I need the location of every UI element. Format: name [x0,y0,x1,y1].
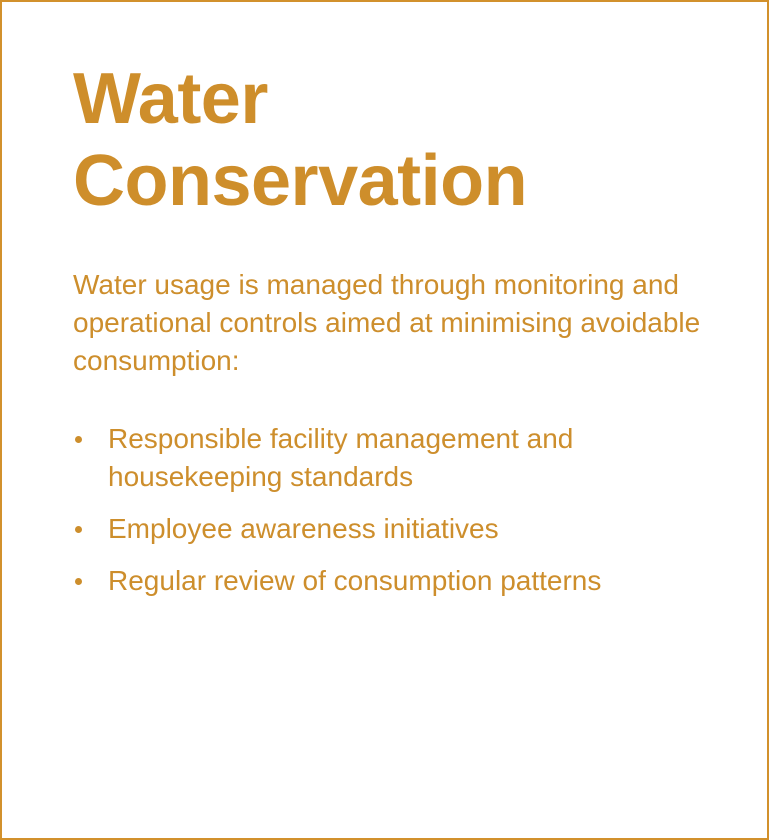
water-conservation-card: Water Conservation Water usage is manage… [0,0,769,840]
empty-area [2,608,767,838]
list-item-label: Responsible facility management and hous… [108,420,705,496]
list-item: Responsible facility management and hous… [73,420,705,496]
bullet-dot-icon [75,436,82,443]
intro-paragraph: Water usage is managed through monitorin… [73,222,705,380]
list-item: Regular review of consumption patterns [73,562,705,600]
card-content: Water Conservation Water usage is manage… [73,58,713,600]
list-item-label: Employee awareness initiatives [108,510,705,548]
bullet-dot-icon [75,578,82,585]
practices-list: Responsible facility management and hous… [73,380,705,600]
list-item: Employee awareness initiatives [73,510,705,548]
list-item-label: Regular review of consumption patterns [108,562,705,600]
page-title: Water Conservation [73,58,553,222]
bullet-dot-icon [75,526,82,533]
